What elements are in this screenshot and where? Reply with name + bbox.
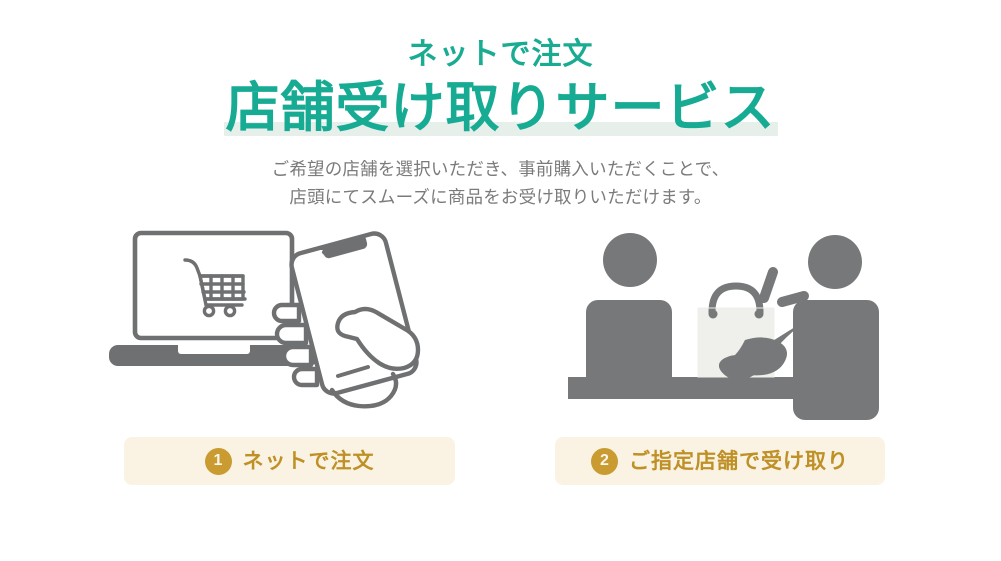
step-number-badge-2: 2	[591, 448, 618, 475]
laptop-base-notch	[178, 345, 250, 354]
customer-figure	[586, 233, 672, 384]
page-title-wrapper: 店舗受け取りサービス	[222, 75, 780, 143]
header-block: ネットで注文 店舗受け取りサービス	[0, 38, 1001, 142]
sparkle-lines	[764, 272, 804, 302]
eyebrow-text: ネットで注文	[0, 38, 1001, 73]
step-pill-1[interactable]: 1 ネットで注文	[124, 437, 455, 485]
step-label-2: ご指定店舗で受け取り	[629, 451, 849, 472]
shopping-cart-icon	[185, 260, 245, 316]
promo-banner: ネットで注文 店舗受け取りサービス ご希望の店舗を選択いただき、事前購入いただく…	[0, 0, 1001, 561]
step-label-1: ネットで注文	[243, 451, 375, 472]
description-block: ご希望の店舗を選択いただき、事前購入いただくことで、 店頭にてスムーズに商品をお…	[0, 155, 1001, 212]
description-line-2: 店頭にてスムーズに商品をお受け取りいただけます。	[0, 183, 1001, 211]
step-pill-2[interactable]: 2 ご指定店舗で受け取り	[555, 437, 885, 485]
store-pickup-illustration	[552, 222, 912, 422]
laptop-phone-illustration	[100, 220, 480, 420]
staff-figure	[793, 235, 879, 420]
step-number-badge-1: 1	[205, 448, 232, 475]
description-line-1: ご希望の店舗を選択いただき、事前購入いただくことで、	[0, 155, 1001, 183]
page-title: 店舗受け取りサービス	[222, 75, 780, 143]
